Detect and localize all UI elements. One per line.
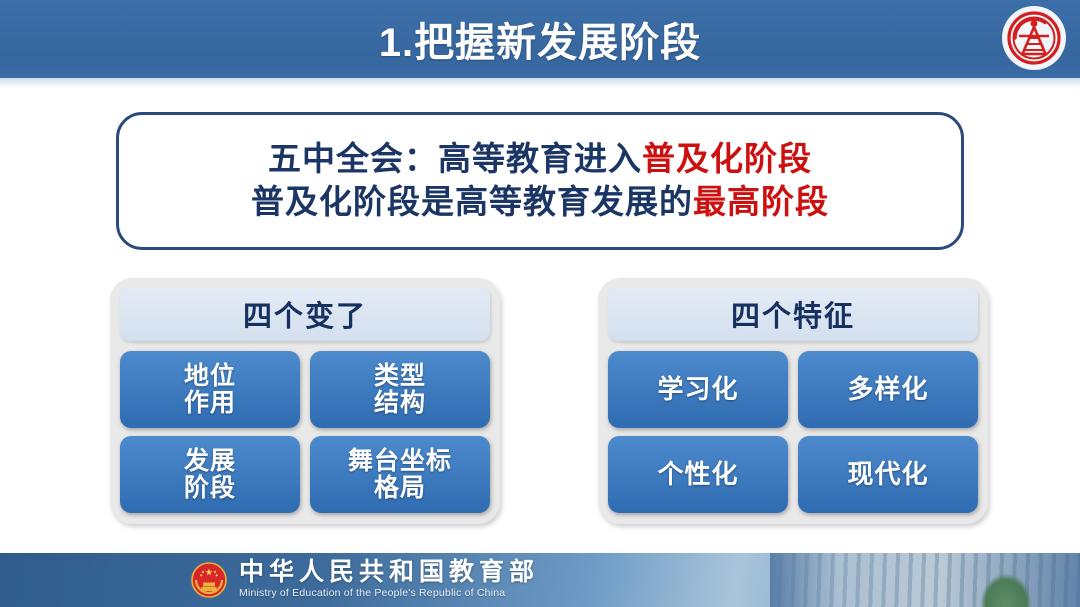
chip-modernized[interactable]: 现代化 bbox=[798, 436, 978, 513]
banner-line-2-normal: 普及化阶段是高等教育发展的 bbox=[251, 183, 693, 220]
chip-stage-coordinates-layout[interactable]: 舞台坐标 格局 bbox=[310, 436, 490, 513]
slide-header-bar: 1.把握新发展阶段 bbox=[0, 0, 1080, 78]
chip-diversified[interactable]: 多样化 bbox=[798, 351, 978, 428]
banner-line-2: 普及化阶段是高等教育发展的最高阶段 bbox=[251, 184, 829, 221]
chip-status-role[interactable]: 地位 作用 bbox=[120, 351, 300, 428]
banner-line-1: 五中全会：高等教育进入普及化阶段 bbox=[268, 141, 812, 178]
chip-type-structure[interactable]: 类型 结构 bbox=[310, 351, 490, 428]
red-circular-tower-emblem-icon bbox=[1005, 9, 1063, 67]
card-four-changes: 四个变了 地位 作用 类型 结构 发展 阶段 舞台坐标 格局 bbox=[110, 278, 500, 524]
footer-org-en: Ministry of Education of the People's Re… bbox=[239, 587, 539, 601]
brand-logo bbox=[1002, 6, 1066, 70]
card-four-changes-grid: 地位 作用 类型 结构 发展 阶段 舞台坐标 格局 bbox=[120, 351, 490, 513]
china-national-emblem-icon bbox=[190, 561, 228, 599]
chip-development-stage[interactable]: 发展 阶段 bbox=[120, 436, 300, 513]
concept-cards: 四个变了 地位 作用 类型 结构 发展 阶段 舞台坐标 格局 四个特征 学习化 … bbox=[0, 278, 1080, 524]
chip-learning-oriented[interactable]: 学习化 bbox=[608, 351, 788, 428]
page-title: 1.把握新发展阶段 bbox=[0, 0, 1080, 78]
banner-line-1-highlight: 普及化阶段 bbox=[642, 140, 812, 177]
footer-org-cn: 中华人民共和国教育部 bbox=[239, 559, 539, 587]
key-message-box: 五中全会：高等教育进入普及化阶段 普及化阶段是高等教育发展的最高阶段 bbox=[116, 112, 964, 250]
slide-footer: 中华人民共和国教育部 Ministry of Education of the … bbox=[0, 553, 1080, 607]
chip-personalized[interactable]: 个性化 bbox=[608, 436, 788, 513]
banner-line-2-highlight: 最高阶段 bbox=[693, 183, 829, 220]
card-four-features-grid: 学习化 多样化 个性化 现代化 bbox=[608, 351, 978, 513]
footer-brand: 中华人民共和国教育部 Ministry of Education of the … bbox=[190, 553, 539, 607]
card-four-changes-title: 四个变了 bbox=[120, 287, 490, 341]
card-four-features-title: 四个特征 bbox=[608, 287, 978, 341]
banner-line-1-normal: 五中全会：高等教育进入 bbox=[268, 140, 642, 177]
footer-text-group: 中华人民共和国教育部 Ministry of Education of the … bbox=[239, 559, 539, 600]
slide-root: 1.把握新发展阶段 五中全会：高等教育进入普及化阶段 普及化阶段是高等教育发展的… bbox=[0, 0, 1080, 607]
ministry-building-photo bbox=[770, 553, 1080, 607]
card-four-features: 四个特征 学习化 多样化 个性化 现代化 bbox=[598, 278, 988, 524]
